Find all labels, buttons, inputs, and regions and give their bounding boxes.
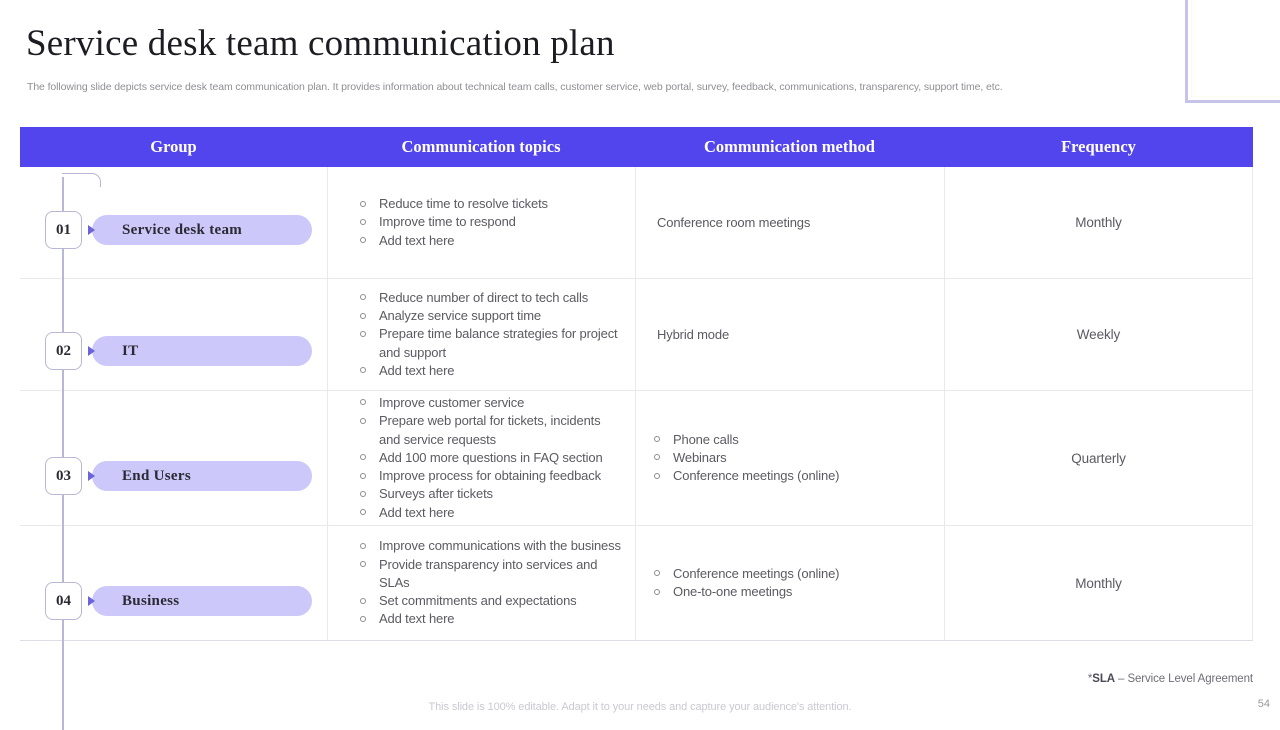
footnote-sla: *SLA – Service Level Agreement — [1088, 673, 1253, 685]
circle-bullet-icon — [360, 201, 366, 207]
list-item-label: Phone calls — [673, 432, 739, 447]
circle-bullet-icon — [654, 570, 660, 576]
circle-bullet-icon — [360, 219, 366, 225]
method-text: Conference room meetings — [646, 214, 810, 232]
list-item: Set commitments and expectations — [352, 592, 625, 610]
list-item: Reduce number of direct to tech calls — [352, 289, 625, 307]
list-item-label: Analyze service support time — [379, 308, 541, 323]
page-title: Service desk team communication plan — [26, 22, 615, 66]
column-header-communication-topics: Communication topics — [327, 137, 635, 157]
list-item: Analyze service support time — [352, 307, 625, 325]
page-subtitle: The following slide depicts service desk… — [27, 80, 1003, 94]
cell-frequency: Quarterly — [944, 391, 1253, 525]
circle-bullet-icon — [654, 473, 660, 479]
list-item-label: Add text here — [379, 363, 454, 378]
list-item-label: Add text here — [379, 233, 454, 248]
method-list: Phone calls Webinars Conference meetings… — [646, 431, 839, 486]
step-number-badge: 01 — [45, 211, 82, 249]
frequency-value: Weekly — [1077, 327, 1120, 342]
footnote-term: SLA — [1092, 673, 1115, 685]
list-item-label: Webinars — [673, 450, 726, 465]
list-item: Add text here — [352, 232, 548, 250]
list-item-label: Reduce number of direct to tech calls — [379, 290, 588, 305]
list-item: Improve process for obtaining feedback — [352, 467, 625, 485]
list-item: Add text here — [352, 610, 625, 628]
list-item: Prepare time balance strategies for proj… — [352, 325, 625, 362]
cell-communication-topics: Reduce time to resolve tickets Improve t… — [327, 167, 635, 278]
column-header-communication-method: Communication method — [635, 137, 944, 157]
list-item: Improve customer service — [352, 394, 625, 412]
cell-frequency: Monthly — [944, 167, 1253, 278]
list-item-label: One-to-one meetings — [673, 584, 792, 599]
circle-bullet-icon — [654, 589, 660, 595]
circle-bullet-icon — [360, 598, 366, 604]
circle-bullet-icon — [360, 616, 366, 622]
list-item-label: Conference meetings (online) — [673, 566, 839, 581]
group-pill-label: Business — [92, 586, 312, 616]
editable-slide-note: This slide is 100% editable. Adapt it to… — [0, 701, 1280, 713]
topics-list: Improve customer service Prepare web por… — [352, 394, 625, 522]
cell-frequency: Weekly — [944, 279, 1253, 390]
step-number-badge: 04 — [45, 582, 82, 620]
cell-communication-method: Conference meetings (online) One-to-one … — [635, 526, 944, 640]
corner-bracket-inner-decoration — [1191, 0, 1280, 97]
cell-communication-topics: Improve communications with the business… — [327, 526, 635, 640]
timeline-item-1[interactable]: 01 Service desk team — [20, 215, 312, 245]
circle-bullet-icon — [654, 454, 660, 460]
frequency-value: Monthly — [1075, 576, 1122, 591]
cell-frequency: Monthly — [944, 526, 1253, 640]
timeline-spine — [62, 177, 64, 730]
method-list: Conference meetings (online) One-to-one … — [646, 565, 839, 602]
group-pill-label: Service desk team — [92, 215, 312, 245]
circle-bullet-icon — [360, 399, 366, 405]
triangle-right-icon — [88, 471, 95, 481]
circle-bullet-icon — [360, 331, 366, 337]
topics-list: Improve communications with the business… — [352, 537, 625, 628]
triangle-right-icon — [88, 225, 95, 235]
list-item: One-to-one meetings — [646, 583, 839, 601]
list-item: Add text here — [352, 362, 625, 380]
list-item: Improve communications with the business — [352, 537, 625, 555]
frequency-value: Quarterly — [1071, 451, 1126, 466]
timeline-item-3[interactable]: 03 End Users — [20, 461, 312, 491]
topics-list: Reduce time to resolve tickets Improve t… — [352, 195, 548, 250]
frequency-value: Monthly — [1075, 215, 1122, 230]
group-pill-label: End Users — [92, 461, 312, 491]
cell-communication-method: Conference room meetings — [635, 167, 944, 278]
circle-bullet-icon — [654, 436, 660, 442]
timeline-item-2[interactable]: 02 IT — [20, 336, 312, 366]
timeline-item-4[interactable]: 04 Business — [20, 586, 312, 616]
circle-bullet-icon — [360, 491, 366, 497]
list-item-label: Reduce time to resolve tickets — [379, 196, 548, 211]
list-item-label: Surveys after tickets — [379, 486, 493, 501]
footnote-definition: – Service Level Agreement — [1115, 673, 1253, 685]
step-number-badge: 03 — [45, 457, 82, 495]
list-item: Webinars — [646, 449, 839, 467]
circle-bullet-icon — [360, 509, 366, 515]
circle-bullet-icon — [360, 237, 366, 243]
group-pill-label: IT — [92, 336, 312, 366]
list-item-label: Set commitments and expectations — [379, 593, 577, 608]
list-item: Conference meetings (online) — [646, 565, 839, 583]
triangle-right-icon — [88, 346, 95, 356]
circle-bullet-icon — [360, 294, 366, 300]
circle-bullet-icon — [360, 473, 366, 479]
list-item-label: Conference meetings (online) — [673, 468, 839, 483]
list-item-label: Improve process for obtaining feedback — [379, 468, 601, 483]
list-item: Prepare web portal for tickets, incident… — [352, 412, 625, 449]
column-header-frequency: Frequency — [944, 137, 1253, 157]
list-item: Improve time to respond — [352, 213, 548, 231]
table-header-row: Group Communication topics Communication… — [20, 127, 1253, 167]
cell-communication-method: Hybrid mode — [635, 279, 944, 390]
cell-communication-method: Phone calls Webinars Conference meetings… — [635, 391, 944, 525]
step-number-badge: 02 — [45, 332, 82, 370]
page-number: 54 — [1258, 698, 1270, 710]
circle-bullet-icon — [360, 367, 366, 373]
circle-bullet-icon — [360, 561, 366, 567]
topics-list: Reduce number of direct to tech calls An… — [352, 289, 625, 380]
list-item: Provide transparency into services and S… — [352, 556, 625, 593]
list-item: Conference meetings (online) — [646, 467, 839, 485]
cell-communication-topics: Reduce number of direct to tech calls An… — [327, 279, 635, 390]
list-item: Surveys after tickets — [352, 485, 625, 503]
list-item-label: Provide transparency into services and S… — [379, 557, 597, 590]
circle-bullet-icon — [360, 418, 366, 424]
list-item-label: Improve customer service — [379, 395, 524, 410]
circle-bullet-icon — [360, 313, 366, 319]
list-item-label: Prepare web portal for tickets, incident… — [379, 413, 600, 446]
list-item-label: Add text here — [379, 611, 454, 626]
list-item: Add text here — [352, 504, 625, 522]
group-timeline: 01 Service desk team 02 IT 03 End Users … — [20, 167, 327, 660]
triangle-right-icon — [88, 596, 95, 606]
list-item: Phone calls — [646, 431, 839, 449]
list-item: Add 100 more questions in FAQ section — [352, 449, 625, 467]
column-header-group: Group — [20, 137, 327, 157]
method-text: Hybrid mode — [646, 326, 729, 344]
circle-bullet-icon — [360, 543, 366, 549]
list-item-label: Improve communications with the business — [379, 538, 621, 553]
list-item: Reduce time to resolve tickets — [352, 195, 548, 213]
list-item-label: Improve time to respond — [379, 214, 516, 229]
list-item-label: Prepare time balance strategies for proj… — [379, 326, 618, 359]
list-item-label: Add text here — [379, 505, 454, 520]
timeline-elbow-connector — [62, 173, 101, 187]
circle-bullet-icon — [360, 454, 366, 460]
list-item-label: Add 100 more questions in FAQ section — [379, 450, 603, 465]
cell-communication-topics: Improve customer service Prepare web por… — [327, 391, 635, 525]
